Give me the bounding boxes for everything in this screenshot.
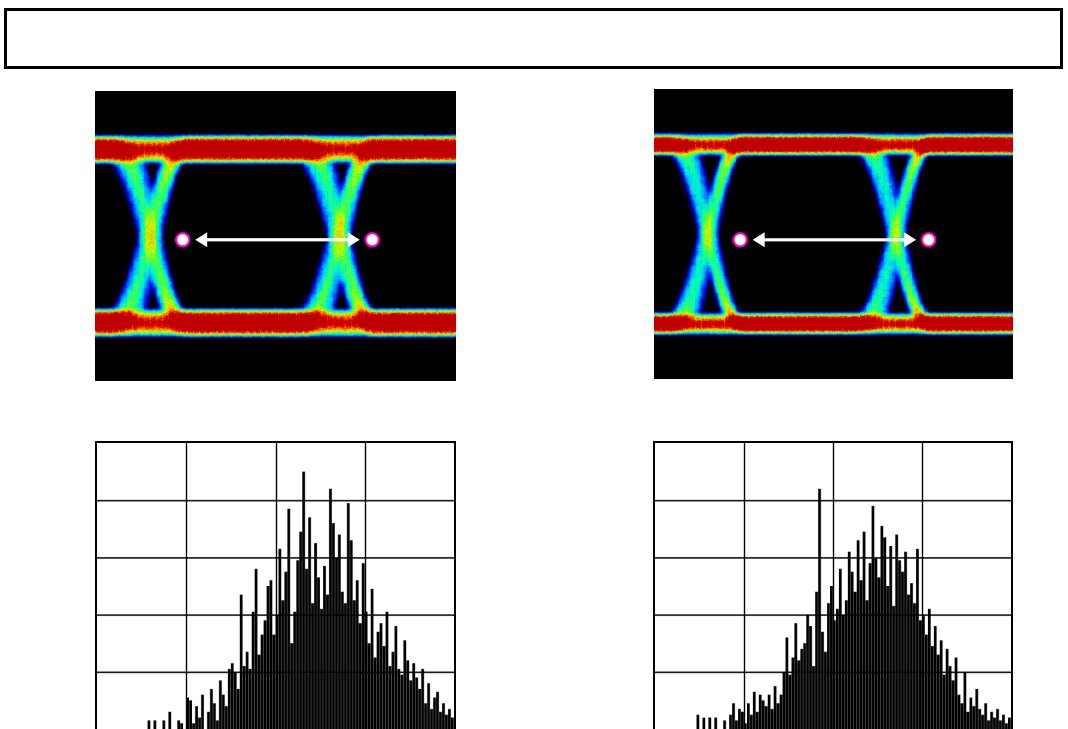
title-box — [4, 8, 1063, 69]
eye-diagram-left-canvas — [95, 91, 456, 381]
eye-diagram-right-panel — [654, 89, 1013, 379]
screenshot-root — [0, 0, 1068, 729]
title-text — [7, 11, 1060, 23]
jitter-histogram-left-panel — [95, 441, 456, 729]
eye-diagram-left-panel — [95, 91, 456, 381]
jitter-histogram-right-canvas — [655, 443, 1011, 729]
eye-diagram-right-canvas — [654, 89, 1013, 379]
jitter-histogram-left-canvas — [97, 443, 454, 729]
jitter-histogram-right-panel — [653, 441, 1013, 729]
